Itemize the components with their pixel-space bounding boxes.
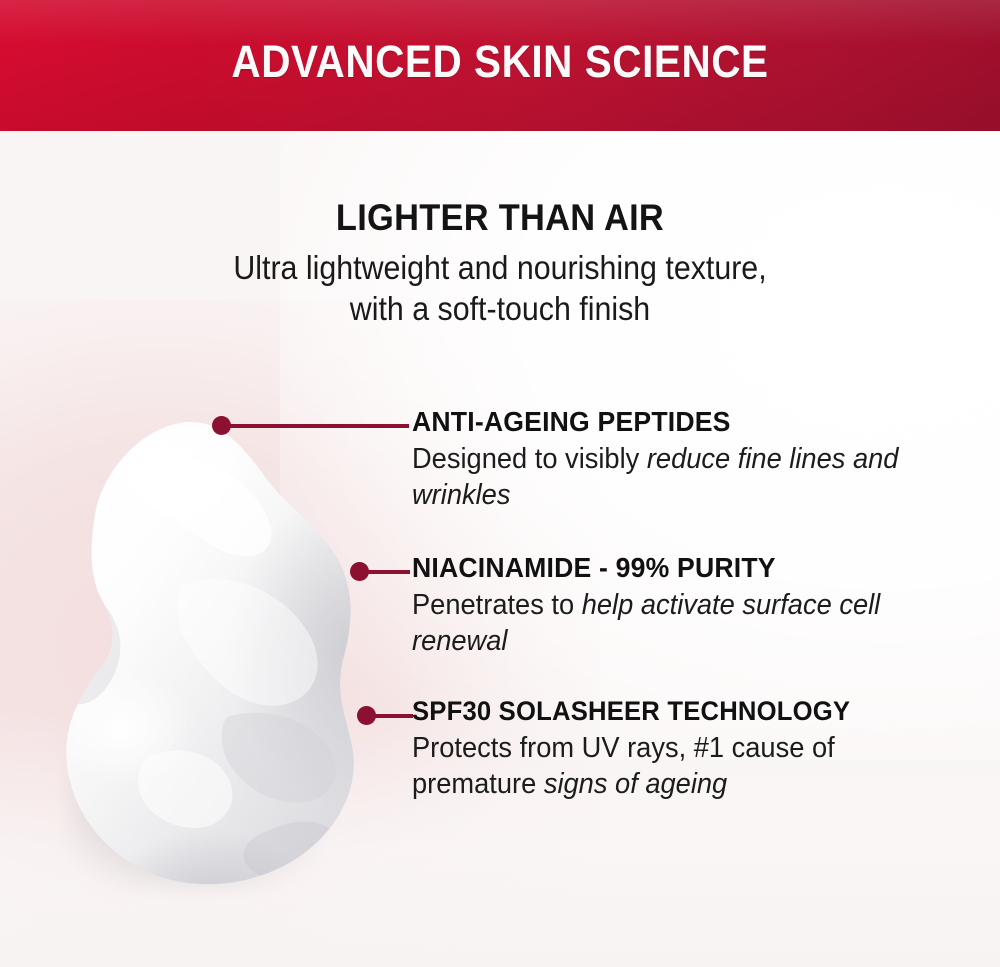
connector-line-2: [364, 570, 410, 574]
callout-heading-2: NIACINAMIDE - 99% PURITY: [412, 551, 944, 585]
cream-swatch-icon: [34, 404, 384, 894]
hero-title: LIGHTER THAN AIR: [35, 196, 965, 240]
callout-body-2: Penetrates to help activate surface cell…: [412, 587, 938, 659]
hero-block: LIGHTER THAN AIR Ultra lightweight and n…: [0, 196, 1000, 329]
hero-subtitle: Ultra lightweight and nourishing texture…: [40, 247, 960, 329]
callout-body-1-plain: Designed to visibly: [412, 443, 647, 475]
header-banner: ADVANCED SKIN SCIENCE: [0, 0, 1000, 131]
advanced-skin-science-poster: ADVANCED SKIN SCIENCE LIGHTER THAN AIR U…: [0, 0, 1000, 967]
banner-title: ADVANCED SKIN SCIENCE: [50, 34, 950, 90]
callout-body-2-plain: Penetrates to: [412, 589, 582, 621]
connector-dot-1: [212, 416, 231, 435]
connector-dot-2: [350, 562, 369, 581]
callout-item-spf30: SPF30 SOLASHEER TECHNOLOGY Protects from…: [412, 694, 982, 802]
cream-swatch: [34, 404, 384, 894]
callout-item-niacinamide: NIACINAMIDE - 99% PURITY Penetrates to h…: [412, 551, 972, 659]
connector-line-1: [227, 424, 409, 428]
hero-subtitle-line-2: with a soft-touch finish: [40, 288, 960, 329]
callout-body-3: Protects from UV rays, #1 cause of prema…: [412, 730, 948, 802]
callout-heading-1: ANTI-AGEING PEPTIDES: [412, 405, 944, 439]
connector-dot-3: [357, 706, 376, 725]
callout-item-peptides: ANTI-AGEING PEPTIDES Designed to visibly…: [412, 405, 972, 513]
callout-body-3-italic: signs of ageing: [544, 768, 727, 800]
connector-line-3: [371, 714, 413, 718]
callout-heading-3: SPF30 SOLASHEER TECHNOLOGY: [412, 694, 954, 728]
hero-subtitle-line-1: Ultra lightweight and nourishing texture…: [40, 247, 960, 288]
callout-body-1: Designed to visibly reduce fine lines an…: [412, 441, 938, 513]
